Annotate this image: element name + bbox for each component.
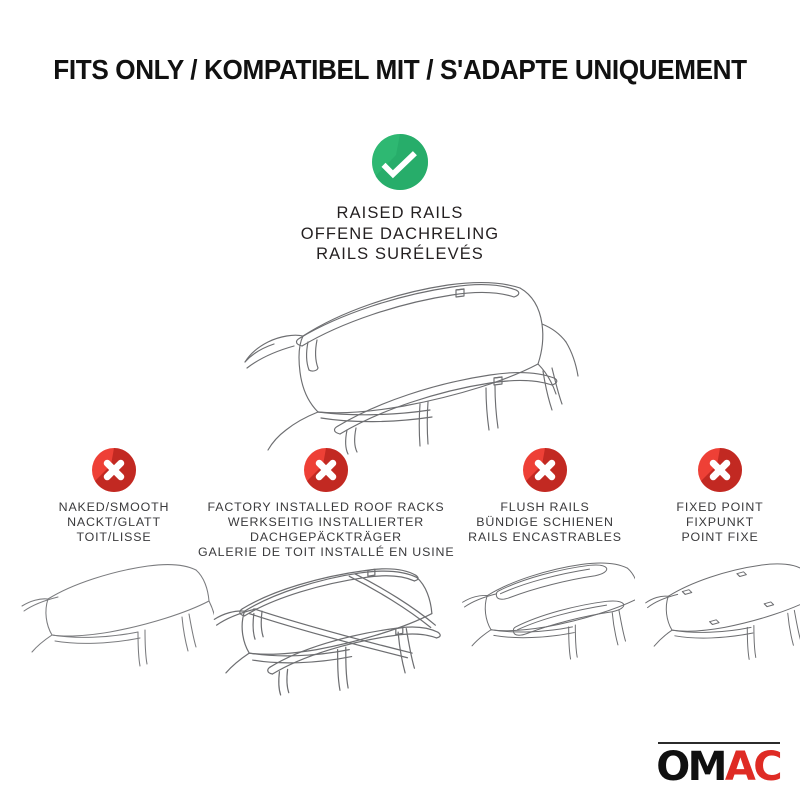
compatible-label-fr: RAILS SURÉLEVÉS — [200, 244, 600, 265]
label-line-1: FIXED POINT — [640, 500, 800, 515]
omac-logo: OMAC — [656, 742, 780, 787]
incompatible-labels: FACTORY INSTALLED ROOF RACKS WERKSEITIG … — [198, 500, 454, 560]
label-line-1: NAKED/SMOOTH — [14, 500, 214, 515]
check-circle-icon — [372, 134, 428, 190]
compatibility-infographic: FITS ONLY / KOMPATIBEL MIT / S'ADAPTE UN… — [0, 0, 800, 800]
cross-circle-icon — [523, 448, 567, 492]
label-line-3: TOIT/LISSE — [14, 530, 214, 545]
cross-circle-icon — [698, 448, 742, 492]
incompatible-item-fixed-point: FIXED POINT FIXPUNKT POINT FIXE — [640, 448, 800, 545]
logo-text-om: OM — [656, 744, 725, 790]
label-line-1: FACTORY INSTALLED ROOF RACKS — [198, 500, 454, 515]
incompatible-labels: FIXED POINT FIXPUNKT POINT FIXE — [640, 500, 800, 545]
car-roof-naked-smooth-illustration — [14, 553, 214, 673]
label-line-2: WERKSEITIG INSTALLIERTER — [198, 515, 454, 530]
compatible-label-en: RAISED RAILS — [200, 203, 600, 224]
page-title: FITS ONLY / KOMPATIBEL MIT / S'ADAPTE UN… — [20, 54, 780, 86]
logo-text-ac: AC — [725, 744, 780, 790]
cross-circle-icon — [92, 448, 136, 492]
incompatible-item-flush-rails: FLUSH RAILS BÜNDIGE SCHIENEN RAILS ENCAS… — [455, 448, 635, 545]
incompatible-item-naked-smooth: NAKED/SMOOTH NACKT/GLATT TOIT/LISSE — [14, 448, 214, 545]
cross-circle-icon — [304, 448, 348, 492]
compatible-labels: RAISED RAILS OFFENE DACHRELING RAILS SUR… — [200, 203, 600, 265]
incompatible-labels: NAKED/SMOOTH NACKT/GLATT TOIT/LISSE — [14, 500, 214, 545]
label-line-1: FLUSH RAILS — [455, 500, 635, 515]
incompatible-labels: FLUSH RAILS BÜNDIGE SCHIENEN RAILS ENCAS… — [455, 500, 635, 545]
car-roof-raised-rails-illustration — [190, 276, 620, 456]
label-line-3: DACHGEPÄCKTRÄGER — [198, 530, 454, 545]
car-roof-flush-rails-illustration — [455, 553, 635, 667]
compatible-label-de: OFFENE DACHRELING — [200, 224, 600, 245]
label-line-4: GALERIE DE TOIT INSTALLÉ EN USINE — [198, 545, 454, 560]
label-line-2: NACKT/GLATT — [14, 515, 214, 530]
logo-wordmark: OMAC — [656, 747, 780, 787]
car-roof-fixed-point-illustration — [640, 553, 800, 666]
incompatible-row: NAKED/SMOOTH NACKT/GLATT TOIT/LISSE — [0, 448, 800, 698]
label-line-3: RAILS ENCASTRABLES — [455, 530, 635, 545]
label-line-2: BÜNDIGE SCHIENEN — [455, 515, 635, 530]
car-roof-factory-racks-illustration — [198, 560, 454, 700]
compatible-section: RAISED RAILS OFFENE DACHRELING RAILS SUR… — [200, 134, 600, 265]
label-line-2: FIXPUNKT — [640, 515, 800, 530]
incompatible-item-factory-racks: FACTORY INSTALLED ROOF RACKS WERKSEITIG … — [198, 448, 454, 560]
label-line-3: POINT FIXE — [640, 530, 800, 545]
